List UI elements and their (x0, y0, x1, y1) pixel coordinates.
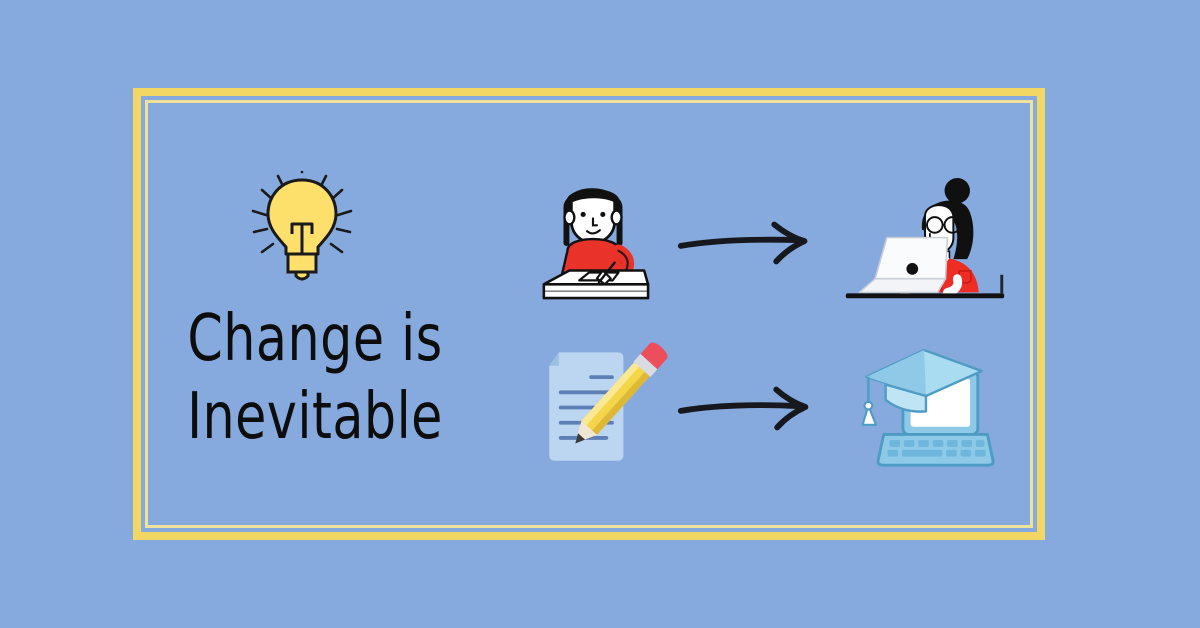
elearning-laptop-graduation-cap-icon (830, 338, 1020, 478)
headline-line-2: Inevitable (179, 378, 452, 456)
flow-row-paper-to-elearning (520, 338, 1020, 478)
headline-column: Change is Inevitable (170, 168, 460, 458)
headline-line-1: Change is (179, 300, 452, 378)
document-with-pencil-icon (520, 338, 665, 478)
poster-canvas: Change is Inevitable (0, 0, 1200, 628)
lightbulb-icon (242, 168, 362, 286)
woman-working-on-laptop-illustration (830, 168, 1020, 318)
page-title: Change is Inevitable (179, 300, 452, 455)
hand-drawn-arrow-right-icon (665, 168, 830, 318)
girl-writing-at-desk-illustration (520, 168, 665, 318)
flow-row-handwriting-to-laptop (520, 168, 1020, 318)
hand-drawn-arrow-right-icon (665, 338, 830, 478)
